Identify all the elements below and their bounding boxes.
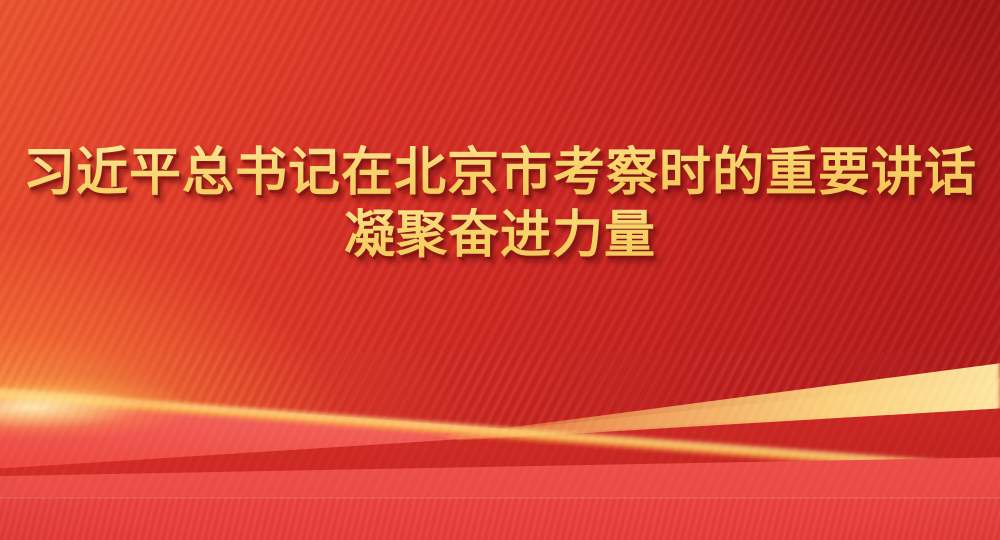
poster-banner: 习近平总书记在北京市考察时的重要讲话 凝聚奋进力量 习近平总书记在北京市考察时的…	[0, 0, 1000, 540]
left-hotspot-glow	[0, 370, 290, 444]
headline-line-2: 凝聚奋进力量	[0, 204, 1000, 266]
bottom-striped-strip	[0, 497, 1000, 540]
bottom-strip-texture	[0, 497, 1000, 540]
page-title: 习近平总书记在北京市考察时的重要讲话 凝聚奋进力量	[0, 142, 1000, 266]
headline-line-1: 习近平总书记在北京市考察时的重要讲话	[0, 142, 1000, 204]
